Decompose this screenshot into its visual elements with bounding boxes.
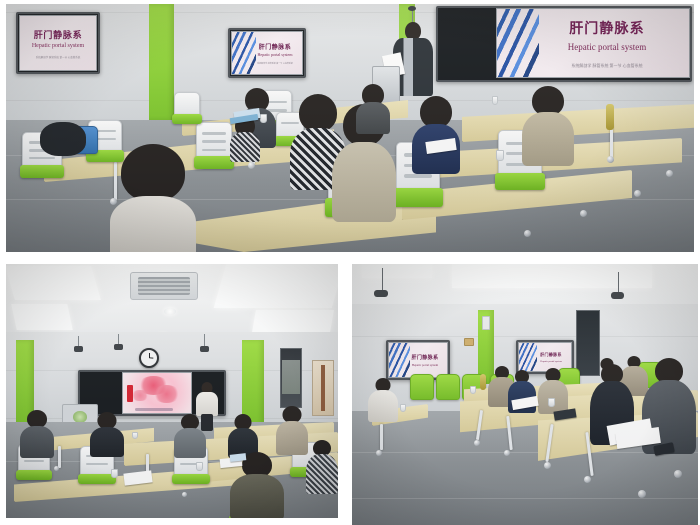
audience-member [20,410,54,456]
slide-center-monitor: 肝门静脉系 Hepatic portal system 系统解剖学 脉管系统 第… [231,31,303,75]
thermos-bottle [480,374,486,390]
slide-subtitle: 系统解剖学 脉管系统 第一节 心血管系统 [36,55,81,59]
paper-cup [492,96,498,105]
ceiling-camera [114,344,123,350]
slide-left-monitor: 肝门静脉系 Hepatic portal system 系统解剖学 脉管系统 第… [19,15,97,71]
torso [110,196,196,252]
chair-seat [495,173,544,190]
audience-member [522,86,574,162]
ceiling-camera [408,6,416,11]
chair-seat [172,474,210,485]
participant [538,368,568,414]
green-accent-column [149,4,174,120]
slide-title-cn: 肝门静脉系 [259,42,291,51]
backpack [40,122,86,156]
chair-back [410,374,434,400]
photo-collage: 肝门静脉系 Hepatic portal system 系统解剖学 脉管系统 第… [0,0,700,525]
slide-blue-decoration [497,9,539,77]
slide-blue-decoration [232,32,256,74]
slide-subtitle: 系统解剖学 脉管系统 第一节 心血管系统 [257,62,293,65]
torso [538,380,568,414]
torso [276,421,308,455]
ceiling-camera [200,346,209,352]
slide-right-display: 肝门静脉系 Hepatic portal system 系统解剖学 脉管系统 第… [496,8,690,78]
head [121,144,185,202]
participant-left-facing [368,378,398,428]
ceiling-light-panel [214,264,338,308]
ceiling-light-panel [11,304,73,330]
slide-title-cn: 肝门静脉系 [569,18,645,38]
photo-classroom-with-female-presenter [6,264,338,518]
torso [522,112,574,166]
audience-member [228,414,258,456]
slide-red-banner [127,385,132,402]
chair-seat [172,114,201,124]
audience-member [356,84,390,132]
ceiling-light-panel [6,266,101,300]
torso [332,142,396,222]
paper-cup [400,404,406,412]
photo-seminar-discussion-room: 肝门静脉系 Hepatic portal system 肝门静脉系 Hepati… [352,264,698,525]
paper-cup [196,462,203,471]
torso [368,390,398,422]
audience-member [276,406,308,452]
chair-seat [393,188,442,206]
paper-cup [548,398,555,407]
wall-poster [312,360,334,416]
audience-member [306,440,338,492]
audience-member [110,144,196,252]
wall-socket [464,338,474,346]
slide-title-en: Hepatic portal system [32,43,84,49]
paper-cup [470,386,476,394]
wall-clock [139,348,159,368]
slide-title-en: Hepatic portal system [540,360,562,363]
torso [90,427,124,457]
paper-cup [260,114,267,123]
paper-cup [111,469,118,478]
slide-title-cn: 肝门静脉系 [540,352,562,358]
torso [230,474,284,518]
ceiling-light-panel [362,264,432,278]
slide-title-en: Hepatic portal system [412,363,438,367]
audience-member [174,414,206,456]
downlight [164,308,176,315]
thermos-bottle [606,104,614,130]
ceiling-air-conditioner [130,272,198,300]
ceiling-camera [74,346,83,352]
slide-title-en: Hepatic portal system [258,52,293,57]
ceiling-light-panel [452,264,652,288]
window [282,360,300,394]
paper-cup [496,150,504,161]
torso [356,102,390,134]
ceiling-camera [374,290,388,297]
chair [196,122,232,162]
chair-seat [16,470,52,480]
chair-back [436,374,460,400]
chair-vacant [436,374,460,400]
wall-control-panel [482,316,490,330]
audience-member [90,412,124,456]
ceiling-light-panel [252,310,334,332]
slide-left-monitor: 肝门静脉系 Hepatic portal system [388,342,448,378]
torso [174,428,206,458]
slide-blue-decoration [389,343,410,377]
paper-cup [132,432,138,439]
slide-blue-decoration [519,343,537,371]
photo-lecture-hall-wide-view: 肝门静脉系 Hepatic portal system 系统解剖学 脉管系统 第… [6,4,694,252]
presenter-torso [196,392,218,416]
chair [174,92,200,120]
chair-seat [194,156,234,170]
torso [230,132,260,162]
slide-subtitle: 系统解剖学 脉管系统 第一节 心血管系统 [571,63,642,69]
ceiling-camera [611,292,624,299]
chair-seat [20,165,65,179]
torso [306,454,338,494]
slide-title-cn: 肝门静脉系 [411,354,438,361]
torso [20,426,54,458]
slide-pink-floral [122,372,192,414]
chair-vacant [410,374,434,400]
slide-title-en: Hepatic portal system [568,42,646,52]
slide-title-cn: 肝门静脉系 [34,28,83,41]
audience-member [412,96,460,170]
